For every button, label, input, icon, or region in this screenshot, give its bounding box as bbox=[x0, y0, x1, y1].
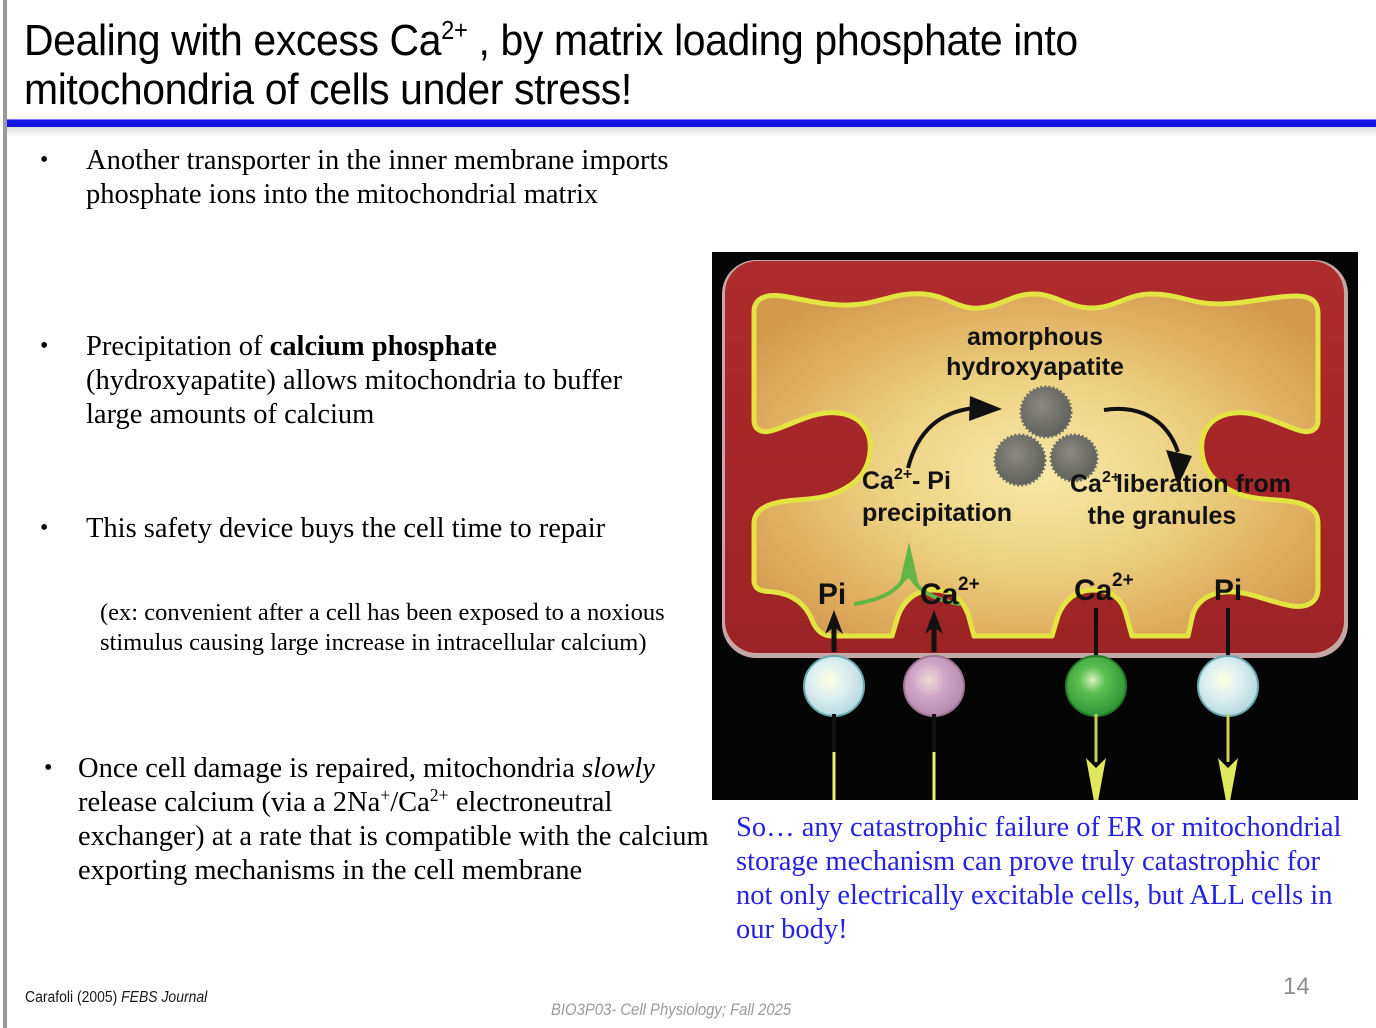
bullet-marker: • bbox=[28, 752, 78, 785]
b2-post: (hydroxyapatite) allows mitochondria to … bbox=[86, 365, 622, 430]
list-item-label: This safety device buys the cell time to… bbox=[86, 512, 668, 546]
title-line-2: mitochondria of cells under stress! bbox=[24, 65, 632, 114]
title-superscript: 2+ bbox=[441, 17, 467, 45]
bullet-marker: • bbox=[28, 144, 86, 177]
list-item-label: Once cell damage is repaired, mitochondr… bbox=[78, 752, 710, 888]
slide-left-rule bbox=[3, 0, 7, 1028]
label-precip-ca-sup: 2+ bbox=[894, 466, 912, 483]
label-precip-line2: precipitation bbox=[862, 499, 1012, 527]
label-liberation-rest: liberation from bbox=[1116, 470, 1291, 498]
title-line-1-post: , by matrix loading phosphate into bbox=[467, 16, 1077, 65]
page-title: Dealing with excess Ca2+ , by matrix loa… bbox=[24, 16, 1252, 115]
bullet-marker: • bbox=[28, 512, 86, 545]
list-item-subnote: (ex: convenient after a cell has been ex… bbox=[100, 598, 740, 658]
mitochondria-diagram-svg: amorphous hydroxyapatite Ca bbox=[712, 252, 1358, 800]
b2-emphasis: calcium phosphate bbox=[270, 331, 497, 362]
ion-label-ca-right: Ca bbox=[1074, 574, 1113, 607]
label-precip-ca: Ca bbox=[862, 467, 895, 495]
b4-pre: Once cell damage is repaired, mitochondr… bbox=[78, 753, 582, 784]
list-item: • This safety device buys the cell time … bbox=[28, 512, 668, 546]
granule-left bbox=[995, 435, 1045, 485]
transporter-ca-uptake bbox=[904, 656, 964, 716]
b2-pre: Precipitation of bbox=[86, 331, 270, 362]
label-precip-pi: - Pi bbox=[912, 467, 951, 495]
granule-top bbox=[1021, 387, 1071, 437]
citation-source: Carafoli (2005) FEBS Journal bbox=[25, 989, 207, 1007]
transporter-pi-uptake bbox=[804, 656, 864, 716]
title-divider-shadow bbox=[7, 127, 1376, 136]
b4-sup-na: + bbox=[380, 785, 390, 805]
citation-journal: FEBS Journal bbox=[121, 989, 207, 1006]
list-item-label: Precipitation of calcium phosphate (hydr… bbox=[86, 330, 680, 432]
bullet-marker: • bbox=[28, 330, 86, 363]
label-liberation-ca: Ca bbox=[1070, 470, 1103, 498]
mitochondria-diagram: amorphous hydroxyapatite Ca bbox=[712, 252, 1358, 800]
transporter-ca-release bbox=[1066, 656, 1126, 716]
title-divider bbox=[7, 119, 1376, 127]
citation-author-year: Carafoli (2005) bbox=[25, 989, 121, 1006]
title-line-1-pre: Dealing with excess Ca bbox=[24, 16, 441, 65]
label-amorphous-line1: amorphous bbox=[967, 323, 1103, 351]
b4-mid: release calcium (via a 2Na bbox=[78, 787, 380, 818]
commentary-text: So… any catastrophic failure of ER or mi… bbox=[736, 811, 1362, 947]
list-item: • Precipitation of calcium phosphate (hy… bbox=[28, 330, 680, 432]
ion-label-ca-right-sup: 2+ bbox=[1112, 570, 1134, 591]
ion-label-pi-right: Pi bbox=[1214, 574, 1242, 607]
ion-label-ca-left-sup: 2+ bbox=[958, 574, 980, 595]
b4-italic: slowly bbox=[582, 753, 655, 784]
list-item: • Once cell damage is repaired, mitochon… bbox=[28, 752, 710, 888]
ion-label-ca-left: Ca bbox=[920, 578, 959, 611]
page-number: 14 bbox=[1283, 973, 1310, 1001]
ion-label-pi-left: Pi bbox=[818, 578, 846, 611]
b4-mid2: /Ca bbox=[390, 787, 430, 818]
label-amorphous-line2: hydroxyapatite bbox=[946, 353, 1124, 381]
slide-canvas: Dealing with excess Ca2+ , by matrix loa… bbox=[0, 0, 1376, 1028]
b4-sup-ca: 2+ bbox=[430, 785, 449, 805]
label-liberation-line2: the granules bbox=[1088, 502, 1237, 530]
transporter-pi-release bbox=[1198, 656, 1258, 716]
list-item: • Another transporter in the inner membr… bbox=[28, 144, 710, 212]
course-footer: BIO3P03- Cell Physiology; Fall 2025 bbox=[551, 1001, 791, 1020]
list-item-label: Another transporter in the inner membran… bbox=[86, 144, 710, 212]
